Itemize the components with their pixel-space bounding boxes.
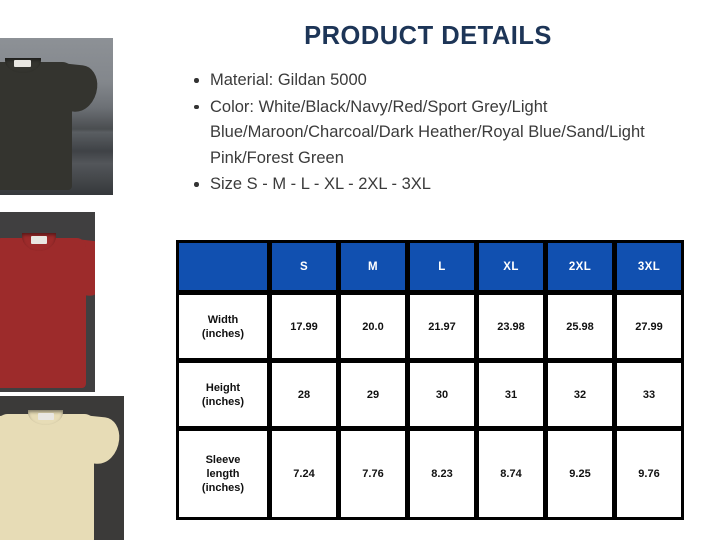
column-header-s: S: [270, 241, 338, 292]
tshirt-body: [0, 238, 86, 389]
tshirt-neck-label: [38, 413, 54, 420]
cell-height-3xl: 33: [615, 361, 683, 428]
cell-width-2xl: 25.98: [546, 293, 614, 360]
cell-height-s: 28: [270, 361, 338, 428]
tshirt-graphic-maroon: [0, 226, 95, 388]
tshirt-neck-label: [14, 60, 30, 67]
row-label-line: (inches): [179, 481, 267, 495]
tshirt-graphic-charcoal: [0, 52, 97, 190]
list-item: Size S - M - L - XL - 2XL - 3XL: [190, 172, 696, 198]
tshirt-body: [0, 414, 94, 540]
product-details-panel: PRODUCT DETAILS Material: Gildan 5000 Co…: [176, 0, 696, 540]
column-header-m: M: [339, 241, 407, 292]
cell-width-l: 21.97: [408, 293, 476, 360]
cell-sleeve-m: 7.76: [339, 429, 407, 519]
cell-sleeve-2xl: 9.25: [546, 429, 614, 519]
product-details-list: Material: Gildan 5000 Color: White/Black…: [176, 68, 696, 198]
cell-sleeve-l: 8.23: [408, 429, 476, 519]
row-label-sleeve-length: Sleeve length (inches): [177, 429, 269, 519]
row-label-line: (inches): [179, 327, 267, 341]
column-header-2xl: 2XL: [546, 241, 614, 292]
row-label-line: Width: [179, 313, 267, 327]
row-label-line: Sleeve: [179, 453, 267, 467]
row-label-width: Width (inches): [177, 293, 269, 360]
cell-sleeve-xl: 8.74: [477, 429, 545, 519]
table-header-row: S M L XL 2XL 3XL: [177, 241, 683, 292]
size-chart-table: S M L XL 2XL 3XL Width (inches) 17.99 20…: [176, 240, 684, 520]
cell-height-l: 30: [408, 361, 476, 428]
row-label-height: Height (inches): [177, 361, 269, 428]
column-header-xl: XL: [477, 241, 545, 292]
page-title: PRODUCT DETAILS: [176, 22, 696, 51]
sand-tshirt-photo: [0, 396, 124, 540]
cell-sleeve-3xl: 9.76: [615, 429, 683, 519]
maroon-tshirt-photo: [0, 212, 95, 392]
cell-width-m: 20.0: [339, 293, 407, 360]
list-item: Color: White/Black/Navy/Red/Sport Grey/L…: [190, 95, 696, 172]
cell-height-m: 29: [339, 361, 407, 428]
product-photo-column: [0, 0, 130, 540]
cell-height-xl: 31: [477, 361, 545, 428]
cell-sleeve-s: 7.24: [270, 429, 338, 519]
table-row: Sleeve length (inches) 7.24 7.76 8.23 8.…: [177, 429, 683, 519]
cell-width-s: 17.99: [270, 293, 338, 360]
column-header-3xl: 3XL: [615, 241, 683, 292]
cell-width-xl: 23.98: [477, 293, 545, 360]
table-row: Height (inches) 28 29 30 31 32 33: [177, 361, 683, 428]
table-row: Width (inches) 17.99 20.0 21.97 23.98 25…: [177, 293, 683, 360]
tshirt-body: [0, 62, 72, 191]
row-label-line: length: [179, 467, 267, 481]
cell-height-2xl: 32: [546, 361, 614, 428]
charcoal-tshirt-photo: [0, 38, 113, 195]
row-label-line: Height: [179, 381, 267, 395]
row-label-line: (inches): [179, 395, 267, 409]
tshirt-neck-label: [31, 236, 47, 244]
tshirt-graphic-sand: [0, 405, 119, 540]
table-corner-cell: [177, 241, 269, 292]
cell-width-3xl: 27.99: [615, 293, 683, 360]
column-header-l: L: [408, 241, 476, 292]
list-item: Material: Gildan 5000: [190, 68, 696, 94]
